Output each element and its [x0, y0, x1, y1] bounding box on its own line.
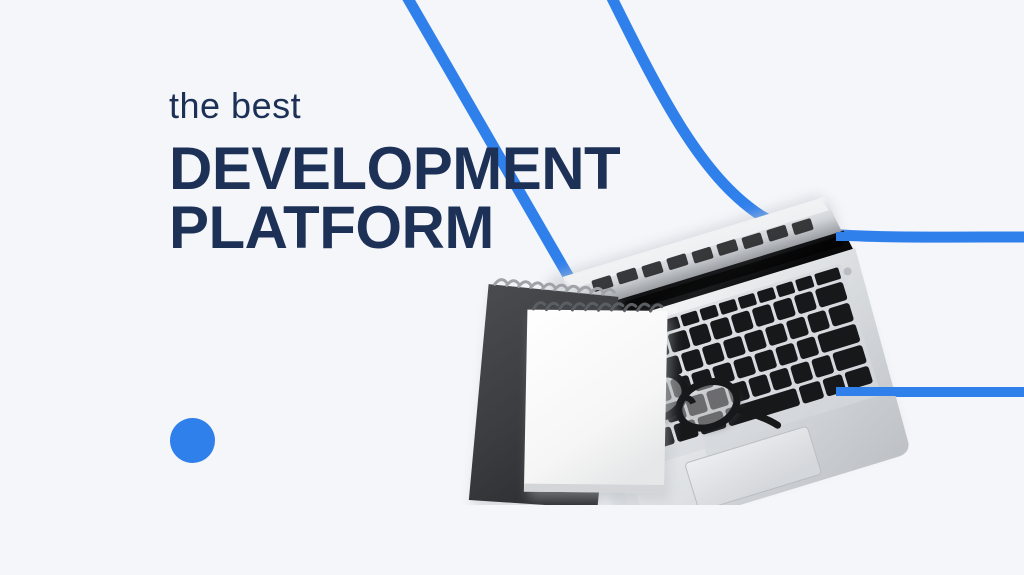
white-spiral-notepad: [518, 298, 679, 505]
blue-dot-decoration: [170, 418, 215, 463]
white-notepad-page: [518, 304, 674, 499]
banner-canvas: the best DEVELOPMENT PLATFORM: [0, 0, 1024, 575]
hero-photo-illustration: [440, 165, 920, 505]
blue-horizontal-bar-upper: [836, 232, 1024, 241]
hero-photo: [440, 165, 920, 505]
eyebrow-text: the best: [169, 88, 620, 124]
blue-horizontal-bar-lower-front: [836, 387, 1024, 396]
